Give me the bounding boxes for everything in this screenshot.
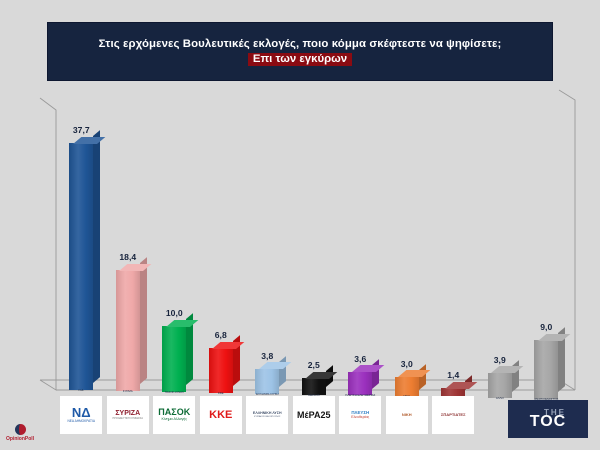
opinionpoll-label: OpinionPoll bbox=[6, 436, 34, 442]
party-logo-subtitle: Ελευθερίας bbox=[351, 416, 369, 420]
party-logo-5: ΕΛΛΗΝΙΚΗ ΛΥΣΗΚΥΡΙΑΚΟΣ ΒΕΛΟΠΟΥΛΟΣ bbox=[246, 396, 288, 434]
party-logo-2: ΣΥΡΙΖΑΠΡΟΟΔΕΥΤΙΚΗ ΣΥΜΜΑΧΙΑ bbox=[107, 396, 149, 434]
bar-value-label: 9,0 bbox=[540, 322, 552, 332]
bar-group: 3,6 bbox=[348, 365, 372, 396]
bar-top-face bbox=[538, 334, 570, 341]
chart-title-question: Στις ερχόμενες Βουλευτικές εκλογές, ποιο… bbox=[99, 38, 502, 50]
bar-front-face bbox=[162, 326, 186, 392]
bar-front-face bbox=[534, 340, 558, 399]
chart-plot-area: 37,7Ν.Δ.18,4ΣΥΡΙΖΑ10,0ΠΑΣΟΚ-ΚΙΝΑΛ6,8ΚΚΕ3… bbox=[0, 88, 600, 398]
bar-top-face bbox=[73, 137, 105, 144]
bar-front-face bbox=[348, 372, 372, 396]
opinionpoll-watermark: OpinionPoll bbox=[6, 424, 34, 442]
x-axis-tick-label: ΣΥΡΙΖΑ bbox=[123, 389, 133, 393]
party-logo-1: ΝΔΝΕΑ ΔΗΜΟΚΡΑΤΙΑ bbox=[60, 396, 102, 434]
bar-side-face bbox=[93, 130, 100, 383]
bar-group: 3,9 bbox=[488, 366, 512, 399]
party-logo-6: ΜέΡΑ25 bbox=[293, 396, 335, 434]
bar-side-face bbox=[140, 258, 147, 384]
x-axis-tick-label: ΕΛΛΗΝΙΚΗ ΛΥΣΗ bbox=[256, 392, 278, 396]
bar-front-face bbox=[69, 143, 93, 390]
party-logo-subtitle: ΠΡΟΟΔΕΥΤΙΚΗ ΣΥΜΜΑΧΙΑ bbox=[113, 418, 143, 420]
bar-top-face bbox=[166, 320, 198, 327]
bar-side-face bbox=[512, 360, 519, 391]
bar-group: 10,0 bbox=[162, 319, 186, 392]
bar-group: 18,4 bbox=[116, 263, 140, 391]
bar-front-face bbox=[209, 348, 233, 393]
toc-toc-text: TOC bbox=[530, 414, 566, 430]
party-logo-8: ΝΙΚΗ bbox=[386, 396, 428, 434]
party-logo-name: ΠΑΣΟΚ bbox=[158, 408, 190, 417]
party-logo-3: ΠΑΣΟΚΚίνημα Αλλαγής bbox=[153, 396, 195, 434]
x-axis-tick-label: Ν.Δ. bbox=[79, 388, 84, 392]
bar-front-face bbox=[116, 270, 140, 391]
party-logo-9: ΣΠΑΡΤΙΑΤΕΣ bbox=[432, 396, 474, 434]
bar-value-label: 6,8 bbox=[215, 330, 227, 340]
party-logo-7: ΠΛΕΥΣΗΕλευθερίας bbox=[339, 396, 381, 434]
bar-value-label: 1,4 bbox=[447, 370, 459, 380]
party-logo-name: ΚΚΕ bbox=[209, 410, 232, 421]
bar-top-face bbox=[259, 362, 291, 369]
bar-group: 3,8 bbox=[255, 362, 279, 394]
party-logo-name: ΣΠΑΡΤΙΑΤΕΣ bbox=[441, 413, 465, 417]
party-logo-subtitle: ΚΥΡΙΑΚΟΣ ΒΕΛΟΠΟΥΛΟΣ bbox=[254, 416, 281, 418]
bar-value-label: 3,9 bbox=[494, 355, 506, 365]
party-logo-4: ΚΚΕ bbox=[200, 396, 242, 434]
bar-value-label: 3,8 bbox=[261, 351, 273, 361]
opinionpoll-dot-icon bbox=[15, 424, 26, 435]
party-logo-subtitle: Κίνημα Αλλαγής bbox=[162, 418, 187, 422]
bar-group: 6,8 bbox=[209, 341, 233, 393]
x-axis-tick-label: ΚΚΕ bbox=[218, 391, 224, 395]
bar-group: 37,7 bbox=[69, 136, 93, 390]
bar-value-label: 37,7 bbox=[73, 125, 90, 135]
bar-front-face bbox=[255, 369, 279, 394]
party-logo-subtitle: ΝΕΑ ΔΗΜΟΚΡΑΤΙΑ bbox=[67, 420, 95, 423]
party-logo-name: ΝΔ bbox=[72, 406, 91, 419]
bar-side-face bbox=[279, 356, 286, 387]
bar-value-label: 10,0 bbox=[166, 308, 183, 318]
bar-front-face bbox=[488, 373, 512, 399]
bar-group: 9,0 bbox=[534, 333, 558, 399]
bar-value-label: 18,4 bbox=[119, 252, 136, 262]
bar-group: 3,0 bbox=[395, 370, 419, 397]
chart-title-subtitle-highlight: Επι των εγκύρων bbox=[248, 53, 352, 66]
bar-value-label: 3,6 bbox=[354, 354, 366, 364]
bar-top-face bbox=[445, 382, 477, 389]
chart-title-banner: Στις ερχόμενες Βουλευτικές εκλογές, ποιο… bbox=[47, 22, 553, 81]
bar-side-face bbox=[372, 359, 379, 388]
bar-value-label: 2,5 bbox=[308, 360, 320, 370]
x-axis-tick-label: ΠΑΣΟΚ-ΚΙΝΑΛ bbox=[165, 390, 184, 394]
party-logo-name: ΝΙΚΗ bbox=[402, 413, 412, 417]
chart-bars-layer: 37,7Ν.Δ.18,4ΣΥΡΙΖΑ10,0ΠΑΣΟΚ-ΚΙΝΑΛ6,8ΚΚΕ3… bbox=[0, 88, 600, 398]
party-logo-name: ΕΛΛΗΝΙΚΗ ΛΥΣΗ bbox=[253, 412, 282, 416]
bar-top-face bbox=[352, 365, 384, 372]
party-logo-name: ΜέΡΑ25 bbox=[297, 411, 330, 420]
bar-group: 2,5 bbox=[302, 371, 326, 394]
bar-value-label: 3,0 bbox=[401, 359, 413, 369]
party-logo-name: ΣΥΡΙΖΑ bbox=[115, 410, 140, 417]
toc-brand-logo: THE TOC bbox=[508, 400, 588, 438]
